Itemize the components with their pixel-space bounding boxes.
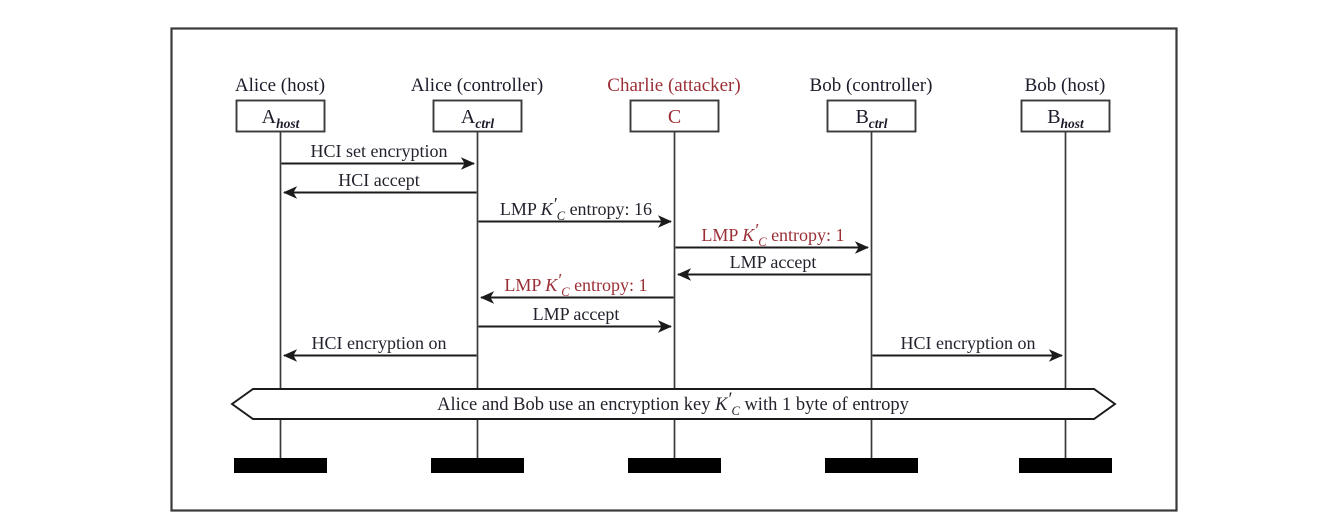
message-label-m4-prefix: LMP: [701, 225, 742, 245]
message-label-m3-suffix: entropy: 16: [565, 199, 652, 219]
message-m4[interactable]: LMP K′C entropy: 1: [676, 220, 869, 249]
end-bar-b-host: [1019, 458, 1112, 473]
message-label-m6-key: K: [544, 275, 558, 295]
message-label-m2: HCI accept: [338, 170, 419, 190]
actor-id-main-a-host: A: [262, 106, 277, 128]
actor-label-a-host: Alice (host): [235, 75, 325, 96]
message-m9[interactable]: HCI encryption on: [873, 333, 1063, 356]
message-label-m9: HCI encryption on: [901, 333, 1036, 353]
actor-label-b-host: Bob (host): [1025, 75, 1106, 96]
sequence-diagram: Alice (host) Ahost Alice (controller) Ac…: [0, 0, 1329, 530]
figure-canvas: Alice (host) Ahost Alice (controller) Ac…: [0, 0, 1329, 530]
actor-label-charlie: Charlie (attacker): [607, 75, 740, 96]
message-label-m7: LMP accept: [533, 304, 620, 324]
end-bar-a-host: [234, 458, 327, 473]
message-label-m4-suffix: entropy: 1: [767, 225, 845, 245]
actor-id-sub-b-host: host: [1061, 116, 1086, 131]
message-m5[interactable]: LMP accept: [678, 252, 871, 275]
message-m3[interactable]: LMP K′C entropy: 16: [479, 194, 672, 223]
summary-suffix: with 1 byte of entropy: [740, 395, 910, 415]
summary-banner-text: Alice and Bob use an encryption key K′C …: [437, 390, 909, 418]
end-bar-charlie: [628, 458, 721, 473]
actor-id-sub-b-ctrl: ctrl: [869, 116, 888, 131]
message-label-m1: HCI set encryption: [311, 141, 448, 161]
summary-prefix: Alice and Bob use an encryption key: [437, 395, 715, 415]
message-m7[interactable]: LMP accept: [479, 304, 672, 327]
actor-label-a-ctrl: Alice (controller): [411, 75, 543, 96]
message-label-m4-key: K: [741, 225, 755, 245]
message-label-m6-prefix: LMP: [504, 275, 545, 295]
message-label-m4: LMP K′C entropy: 1: [701, 220, 844, 249]
actor-id-main-charlie: C: [668, 106, 681, 128]
message-m8[interactable]: HCI encryption on: [284, 333, 477, 356]
end-bar-b-ctrl: [825, 458, 918, 473]
message-label-m8: HCI encryption on: [312, 333, 447, 353]
message-m6[interactable]: LMP K′C entropy: 1: [481, 270, 674, 299]
actor-id-main-b-host: B: [1047, 106, 1060, 128]
message-label-m5: LMP accept: [730, 252, 817, 272]
message-label-m3-prefix: LMP: [500, 199, 541, 219]
actor-id-charlie: C: [668, 106, 681, 128]
actor-id-main-a-ctrl: A: [461, 106, 476, 128]
message-label-m6-suffix: entropy: 1: [570, 275, 648, 295]
message-label-m6: LMP K′C entropy: 1: [504, 270, 647, 299]
summary-banner: Alice and Bob use an encryption key K′C …: [232, 389, 1115, 419]
message-m1[interactable]: HCI set encryption: [282, 141, 475, 164]
actor-id-sub-a-host: host: [276, 116, 301, 131]
message-label-m3-key: K: [540, 199, 554, 219]
end-bar-a-ctrl: [431, 458, 524, 473]
actor-label-b-ctrl: Bob (controller): [810, 75, 933, 96]
message-label-m3: LMP K′C entropy: 16: [500, 194, 652, 223]
message-m2[interactable]: HCI accept: [284, 170, 477, 193]
actor-id-sub-a-ctrl: ctrl: [475, 116, 494, 131]
actor-id-main-b-ctrl: B: [855, 106, 868, 128]
